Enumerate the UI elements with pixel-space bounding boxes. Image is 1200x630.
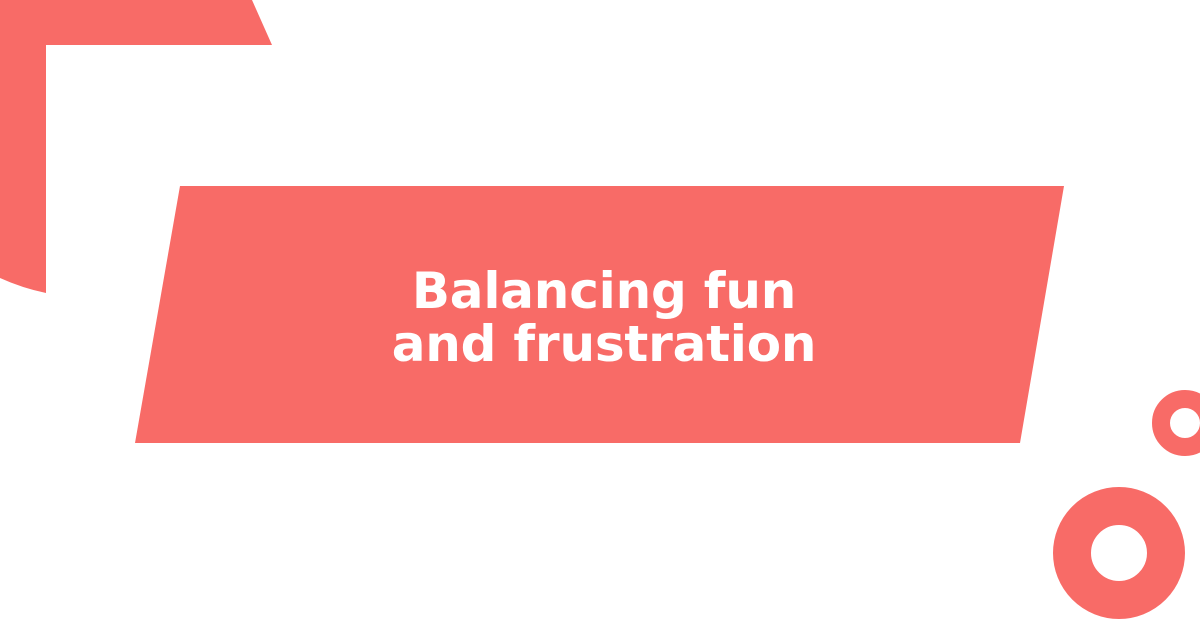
social-card-canvas: Balancing fun and frustration — [0, 0, 1200, 630]
page-title: Balancing fun and frustration — [365, 265, 835, 371]
title-banner: Balancing fun and frustration — [120, 180, 1080, 455]
ring-large-icon — [1053, 487, 1185, 619]
ring-small-icon — [1152, 390, 1200, 456]
banner-text-wrap: Balancing fun and frustration — [120, 180, 1080, 455]
